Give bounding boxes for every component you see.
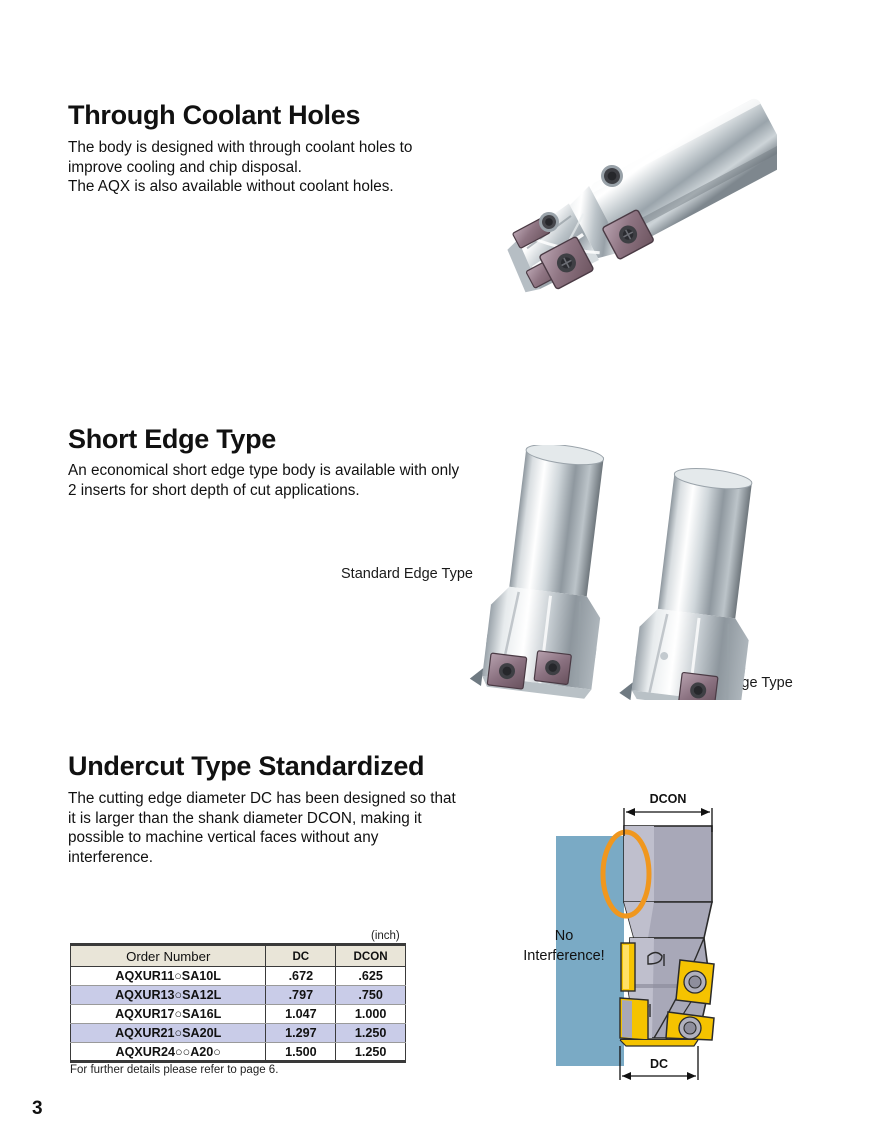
cell-order-number: AQXUR24○○A20○ — [71, 1043, 266, 1062]
cell-dcon: 1.000 — [336, 1005, 406, 1024]
table-row: AQXUR11○SA10L .672 .625 — [71, 967, 406, 986]
cell-dcon: .625 — [336, 967, 406, 986]
table-header-dc: DC — [266, 945, 336, 967]
cell-order-number: AQXUR13○SA12L — [71, 986, 266, 1005]
table-header-dcon: DCON — [336, 945, 406, 967]
section-title-through-coolant-holes: Through Coolant Holes — [68, 100, 360, 131]
table-row: AQXUR17○SA16L 1.047 1.000 — [71, 1005, 406, 1024]
insert-lower — [620, 998, 648, 1040]
section-title-undercut-type-standardized: Undercut Type Standardized — [68, 751, 424, 782]
cell-order-number: AQXUR11○SA10L — [71, 967, 266, 986]
order-number-spec-table: Order Number DC DCON AQXUR11○SA10L .672 … — [70, 943, 406, 1063]
insert-right-lower — [666, 1012, 714, 1040]
cell-dc: .672 — [266, 967, 336, 986]
table-unit-label: (inch) — [371, 930, 400, 942]
section-body-through-coolant-holes: The body is designed with through coolan… — [68, 138, 468, 197]
annotation-no-interference-line2: Interference! — [523, 948, 604, 964]
insert-right-upper — [676, 960, 714, 1004]
table-row: AQXUR13○SA12L .797 .750 — [71, 986, 406, 1005]
cell-dc: 1.500 — [266, 1043, 336, 1062]
cell-order-number: AQXUR17○SA16L — [71, 1005, 266, 1024]
cell-dc: 1.047 — [266, 1005, 336, 1024]
photo-standard-and-short-edge-cutters — [425, 445, 825, 700]
table-header-order-number: Order Number — [71, 945, 266, 967]
section-body-undercut-type-standardized: The cutting edge diameter DC has been de… — [68, 789, 463, 867]
dimension-label-dc: DC — [650, 1057, 668, 1071]
table-row: AQXUR21○SA20L 1.297 1.250 — [71, 1024, 406, 1043]
cell-dcon: 1.250 — [336, 1043, 406, 1062]
section-body-short-edge-type: An economical short edge type body is av… — [68, 461, 468, 500]
cell-order-number: AQXUR21○SA20L — [71, 1024, 266, 1043]
photo-through-coolant-end-mill — [487, 88, 777, 333]
cell-dc: 1.297 — [266, 1024, 336, 1043]
cell-dcon: 1.250 — [336, 1024, 406, 1043]
undercut-clearance-diagram: DCON DC No Interference! — [508, 788, 870, 1088]
cell-dc: .797 — [266, 986, 336, 1005]
cell-dcon: .750 — [336, 986, 406, 1005]
table-header-row: Order Number DC DCON — [71, 945, 406, 967]
table-footnote: For further details please refer to page… — [70, 1064, 278, 1076]
annotation-no-interference-line1: No — [555, 928, 574, 944]
insert-upper — [621, 943, 635, 991]
section-title-short-edge-type: Short Edge Type — [68, 424, 276, 455]
dimension-label-dcon: DCON — [650, 792, 687, 806]
catalog-page: Through Coolant Holes The body is design… — [0, 0, 878, 1140]
page-number: 3 — [32, 1098, 43, 1120]
table-row: AQXUR24○○A20○ 1.500 1.250 — [71, 1043, 406, 1062]
